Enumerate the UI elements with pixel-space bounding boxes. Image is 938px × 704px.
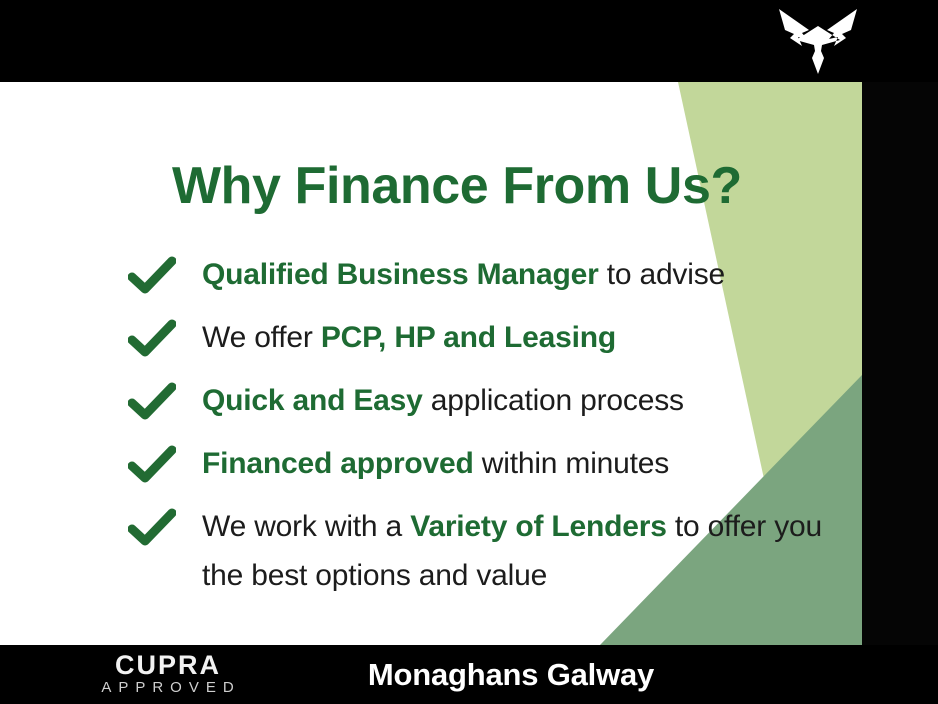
page-title: Why Finance From Us? [172,156,742,216]
check-icon [128,256,176,296]
list-item-text: Qualified Business Manager to advise [202,258,725,291]
check-icon [128,319,176,359]
benefits-list: Qualified Business Manager to advise We … [128,250,828,600]
check-icon [128,445,176,485]
list-item: Financed approved within minutes [128,439,828,502]
top-black-bar [0,0,938,82]
list-item-highlight: Financed approved [202,447,474,480]
check-icon [128,508,176,548]
list-item-text: Financed approved within minutes [202,447,669,480]
list-item-tail: to advise [599,258,725,291]
list-item-tail: within minutes [474,447,669,480]
list-item-text: We work with a Variety of Lenders to off… [202,510,822,592]
cupra-tribal-logo-icon [776,6,860,76]
list-item-highlight: Variety of Lenders [410,510,667,543]
list-item: Qualified Business Manager to advise [128,250,828,313]
content-panel: Why Finance From Us? Qualified Business … [0,82,862,645]
list-item-highlight: PCP, HP and Leasing [321,321,616,354]
list-item-text: Quick and Easy application process [202,384,684,417]
list-item: We offer PCP, HP and Leasing [128,313,828,376]
list-item: Quick and Easy application process [128,376,828,439]
check-icon [128,382,176,422]
footer-bar: CUPRA APPROVED Monaghans Galway [0,645,938,704]
slide-root: Why Finance From Us? Qualified Business … [0,0,938,704]
list-item: We work with a Variety of Lenders to off… [128,502,828,600]
list-item-text: We offer PCP, HP and Leasing [202,321,616,354]
list-item-highlight: Quick and Easy [202,384,423,417]
dealer-name: Monaghans Galway [0,657,862,693]
list-item-highlight: Qualified Business Manager [202,258,599,291]
list-item-tail: application process [423,384,684,417]
list-item-lead: We work with a [202,510,410,543]
list-item-lead: We offer [202,321,321,354]
